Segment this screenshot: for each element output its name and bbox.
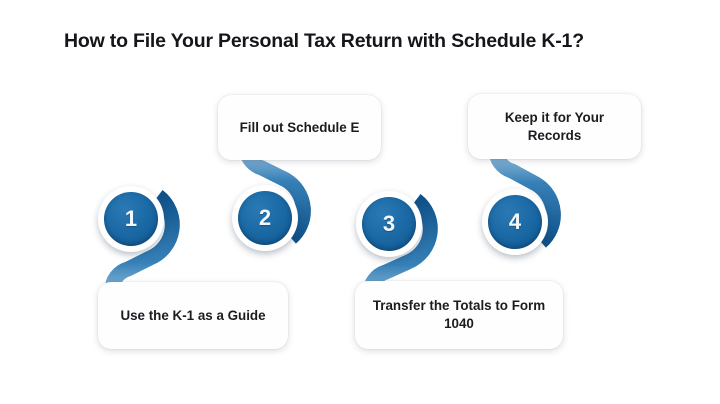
step-card-4[interactable]: Keep it for Your Records	[468, 94, 641, 159]
step-circle-inner-3: 3	[362, 197, 416, 251]
step-circle-3[interactable]: 3	[356, 191, 422, 257]
step-number-1: 1	[125, 208, 137, 230]
step-circle-2[interactable]: 2	[232, 185, 298, 251]
step-card-label-4: Keep it for Your Records	[478, 109, 631, 144]
steps-layer: Fill out Schedule E Keep it for Your Rec…	[0, 0, 720, 404]
step-card-label-2: Fill out Schedule E	[240, 119, 360, 137]
step-card-label-3: Transfer the Totals to Form 1040	[365, 297, 553, 332]
step-circle-inner-4: 4	[488, 195, 542, 249]
step-number-3: 3	[383, 213, 395, 235]
infographic-canvas: How to File Your Personal Tax Return wit…	[0, 0, 720, 404]
step-card-3[interactable]: Transfer the Totals to Form 1040	[355, 281, 563, 349]
step-circle-inner-1: 1	[104, 192, 158, 246]
step-number-4: 4	[509, 211, 521, 233]
step-card-label-1: Use the K-1 as a Guide	[120, 307, 265, 325]
step-number-2: 2	[259, 207, 271, 229]
step-circle-1[interactable]: 1	[98, 186, 164, 252]
step-card-1[interactable]: Use the K-1 as a Guide	[98, 282, 288, 349]
step-circle-4[interactable]: 4	[482, 189, 548, 255]
step-card-2[interactable]: Fill out Schedule E	[218, 95, 381, 160]
step-circle-inner-2: 2	[238, 191, 292, 245]
